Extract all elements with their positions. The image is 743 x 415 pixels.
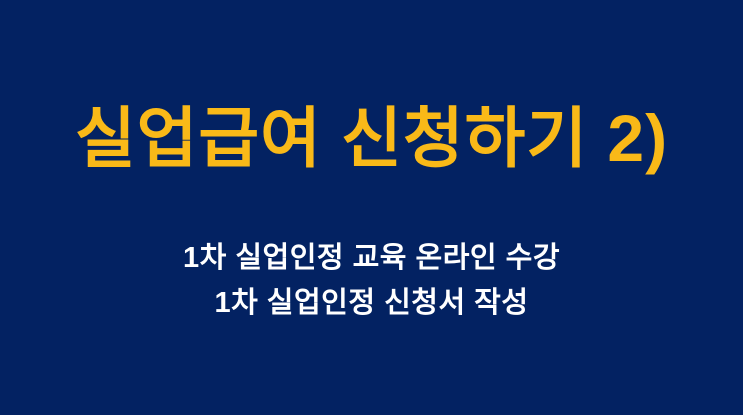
subtitle-line-2: 1차 실업인정 신청서 작성 (0, 281, 743, 326)
subtitle-line-1: 1차 실업인정 교육 온라인 수강 (0, 236, 743, 281)
title-card-slide: 실업급여 신청하기 2) 1차 실업인정 교육 온라인 수강 1차 실업인정 신… (0, 0, 743, 415)
subtitle-container: 1차 실업인정 교육 온라인 수강 1차 실업인정 신청서 작성 (0, 236, 743, 326)
page-title: 실업급여 신청하기 2) (0, 98, 743, 178)
title-container: 실업급여 신청하기 2) (0, 98, 743, 178)
